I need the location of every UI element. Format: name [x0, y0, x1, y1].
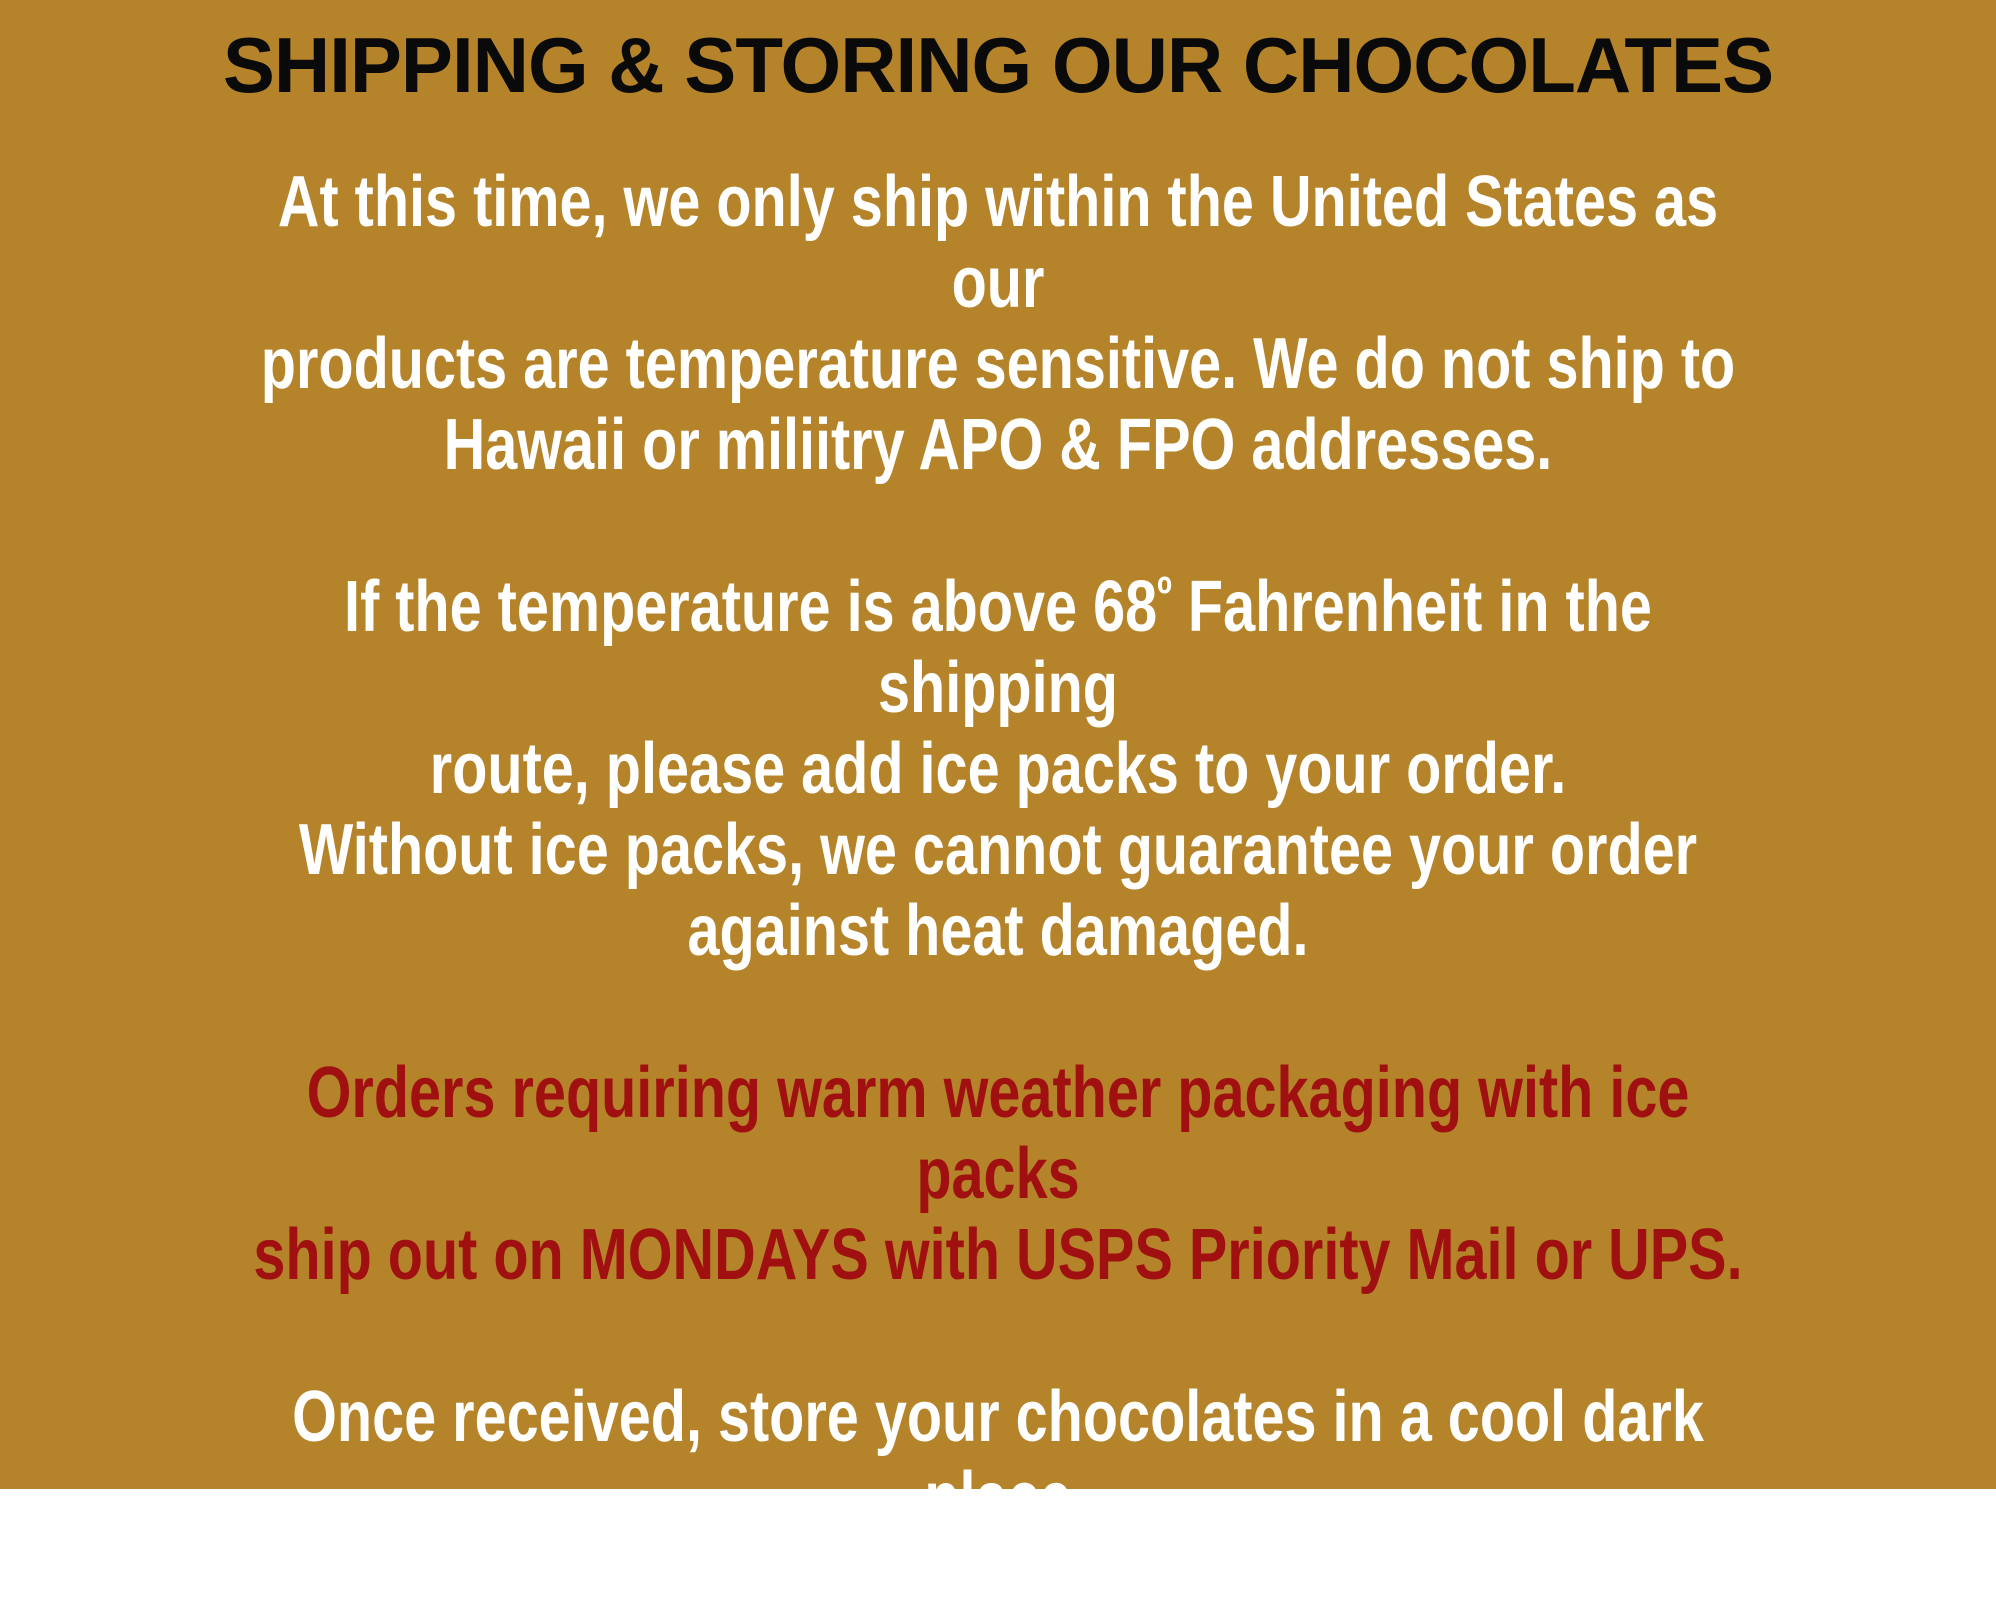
paragraph-line: between 65-68º Fahrenheit and enjoy at 7… [235, 1539, 1761, 1620]
page-title: SHIPPING & STORING OUR CHOCOLATES [0, 0, 1996, 104]
degree-symbol: º [1403, 1537, 1418, 1594]
paragraph-line: At this time, we only ship within the Un… [235, 162, 1761, 324]
paragraph-line: route, please add ice packs to your orde… [235, 729, 1761, 810]
paragraph-line: If the temperature is above 68º Fahrenhe… [235, 567, 1761, 729]
paragraph-line: ship out on MONDAYS with USPS Priority M… [235, 1215, 1761, 1296]
paragraph-line: products are temperature sensitive. We d… [235, 324, 1761, 405]
paragraph-warm-weather-shipping-day: Orders requiring warm weather packaging … [235, 1053, 1761, 1296]
paragraph-ice-packs: If the temperature is above 68º Fahrenhe… [235, 567, 1761, 972]
paragraph-line: Hawaii or miliitry APO & FPO addresses. [235, 405, 1761, 486]
shipping-storing-notice-card: SHIPPING & STORING OUR CHOCOLATES At thi… [0, 0, 1996, 1489]
paragraph-line: Once received, store your chocolates in … [235, 1377, 1761, 1539]
notice-body: At this time, we only ship within the Un… [0, 162, 1996, 1620]
degree-symbol: º [1157, 565, 1172, 622]
degree-symbol: º [646, 1537, 661, 1594]
paragraph-line: Without ice packs, we cannot guarantee y… [235, 810, 1761, 891]
paragraph-line: Orders requiring warm weather packaging … [235, 1053, 1761, 1215]
paragraph-shipping-area: At this time, we only ship within the Un… [235, 162, 1761, 486]
paragraph-line: against heat damaged. [235, 891, 1761, 972]
paragraph-storage-instructions: Once received, store your chocolates in … [235, 1377, 1761, 1620]
